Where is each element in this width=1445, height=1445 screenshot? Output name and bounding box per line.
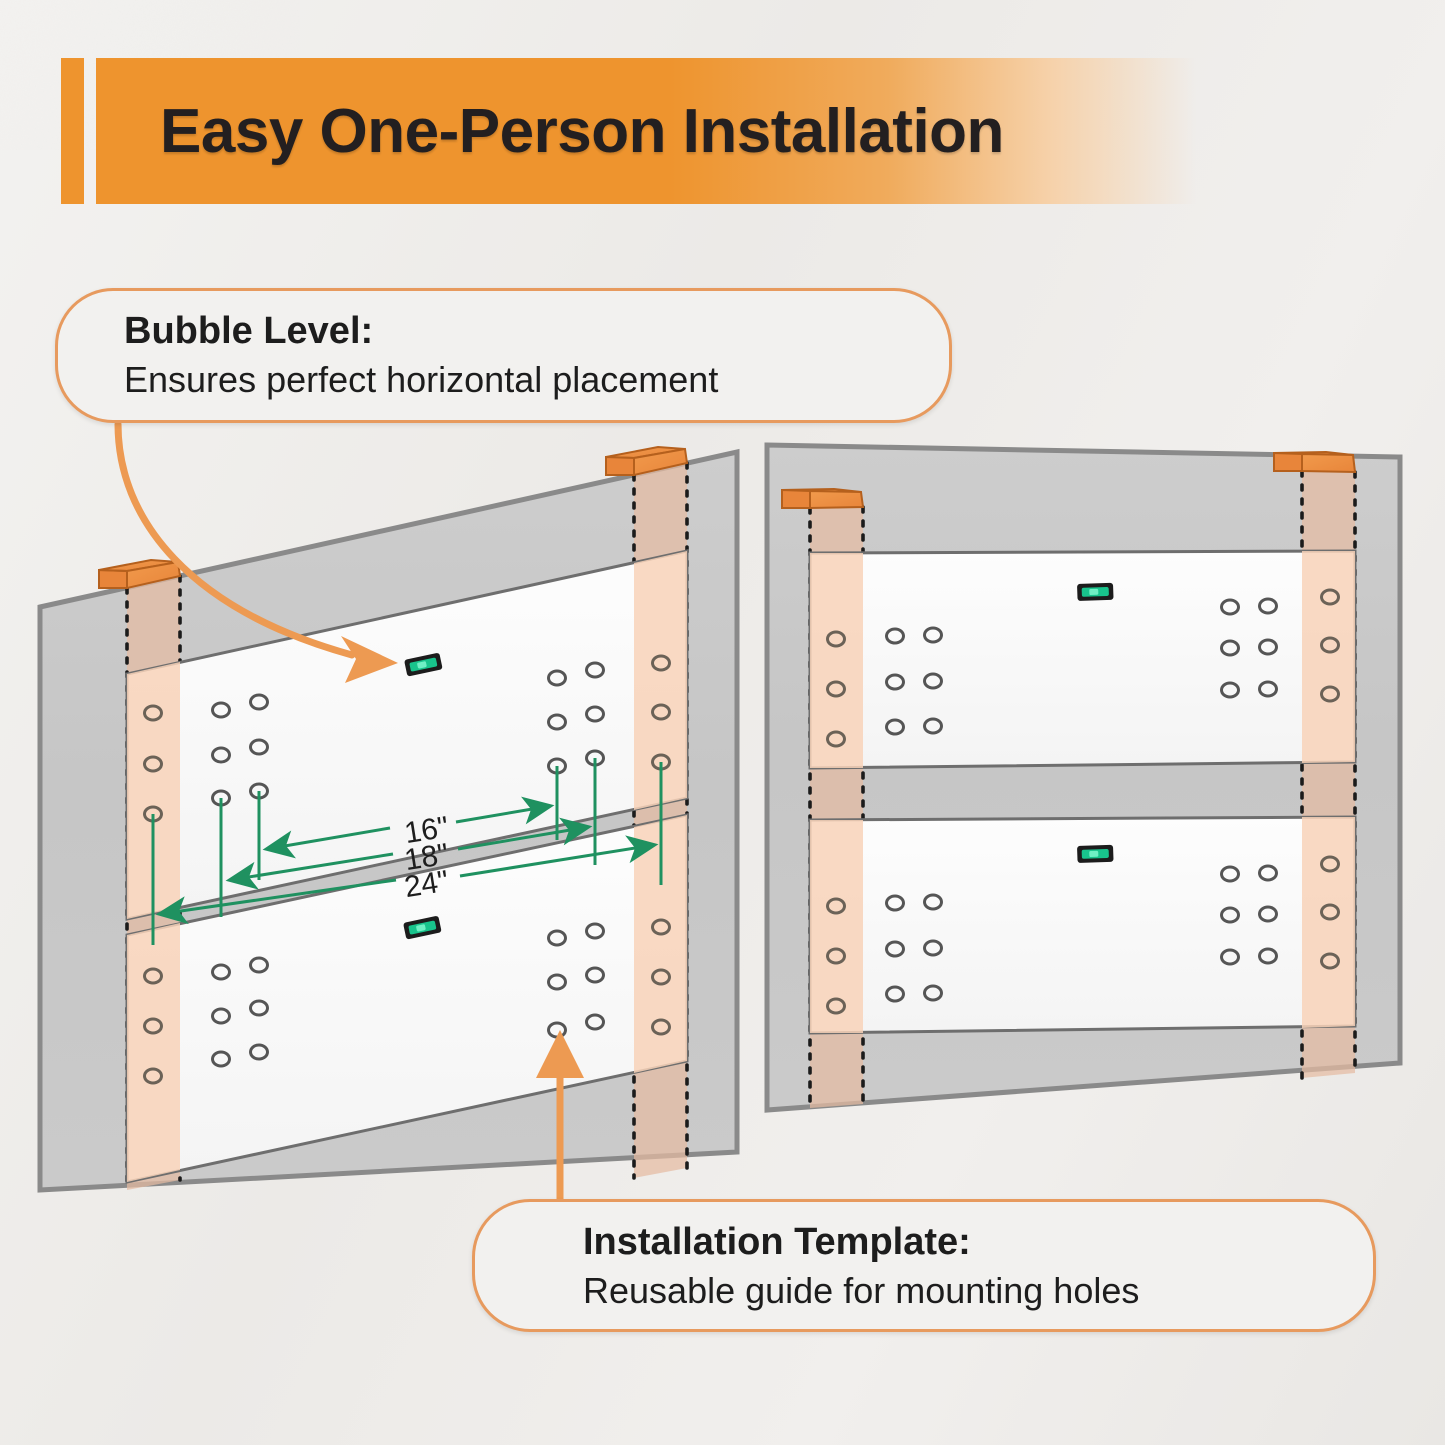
callout-bubble-level-title: Bubble Level:	[124, 309, 909, 354]
dimension-labels: 16" 18" 24"	[402, 811, 451, 904]
stud-cap-icon	[782, 489, 863, 508]
callout-installation-template-description: Reusable guide for mounting holes	[583, 1269, 1333, 1312]
callout-installation-template-title: Installation Template:	[583, 1220, 1333, 1265]
callout-bubble-level-description: Ensures perfect horizontal placement	[124, 358, 909, 401]
template-panel-right-upper	[810, 551, 1355, 768]
callout-bubble-level[interactable]: Bubble Level: Ensures perfect horizontal…	[55, 288, 952, 423]
bubble-level-icon	[1077, 583, 1114, 601]
template-panel-right-lower	[810, 817, 1355, 1033]
callout-installation-template[interactable]: Installation Template: Reusable guide fo…	[472, 1199, 1376, 1332]
stud-cap-icon	[1274, 452, 1355, 472]
dimension-label-24: 24"	[402, 865, 451, 904]
bubble-level-icon	[1077, 845, 1114, 863]
